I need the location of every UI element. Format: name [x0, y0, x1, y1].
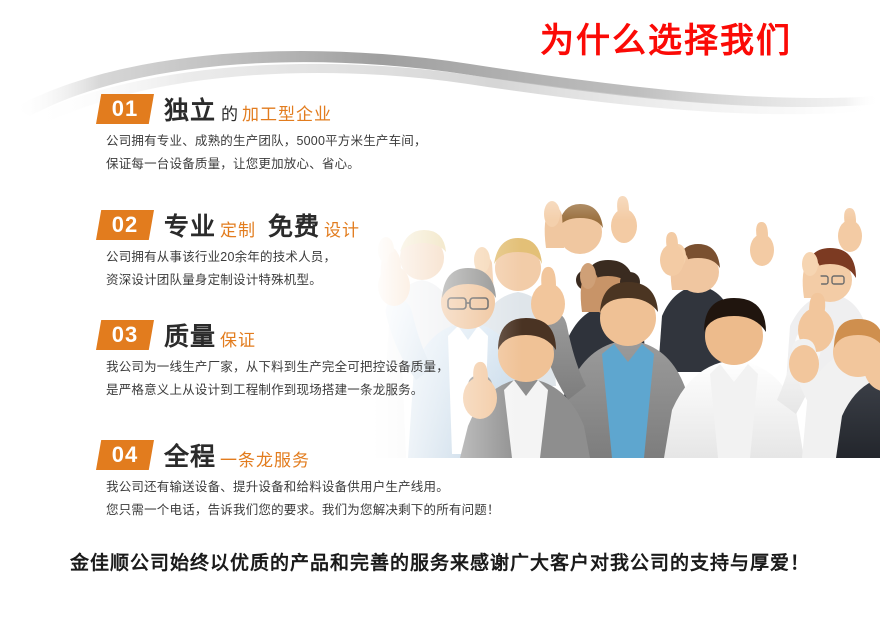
badge-number: 01	[96, 94, 154, 124]
badge-01: 01	[96, 94, 154, 124]
feature-body-line: 是严格意义上从设计到工程制作到现场搭建一条龙服务。	[96, 379, 496, 402]
footer-slogan: 金佳顺公司始终以优质的产品和完善的服务来感谢广大客户对我公司的支持与厚爱！	[0, 548, 880, 575]
feature-body-line: 您只需一个电话，告诉我们您的要求。我们为您解决剩下的所有问题！	[96, 499, 496, 522]
feature-heading: 04 全程 一条龙服务	[96, 434, 496, 470]
team-thumbs-up-photo	[372, 140, 880, 458]
heading-main: 专业	[164, 215, 216, 240]
feature-heading: 02 专业 定制 免费 设计	[96, 204, 496, 240]
feature-body-line: 我公司还有输送设备、提升设备和给料设备供用户生产线用。	[96, 476, 496, 499]
feature-item-02: 02 专业 定制 免费 设计 公司拥有从事该行业20余年的技术人员， 资深设计团…	[96, 204, 496, 292]
heading-accent: 定制	[220, 222, 256, 239]
feature-body-line: 公司拥有从事该行业20余年的技术人员，	[96, 246, 496, 269]
heading-main: 质量	[164, 325, 216, 350]
feature-item-04: 04 全程 一条龙服务 我公司还有输送设备、提升设备和给料设备供用户生产线用。 …	[96, 434, 496, 522]
feature-item-03: 03 质量 保证 我公司为一线生产厂家，从下料到生产完全可把控设备质量， 是严格…	[96, 314, 496, 402]
feature-body-line: 公司拥有专业、成熟的生产团队，5000平方米生产车间，	[96, 130, 496, 153]
feature-item-01: 01 独立 的 加工型企业 公司拥有专业、成熟的生产团队，5000平方米生产车间…	[96, 88, 496, 176]
heading-connector: 的	[221, 106, 238, 123]
heading-accent: 保证	[220, 332, 256, 349]
badge-02: 02	[96, 210, 154, 240]
page-title: 为什么选择我们	[540, 24, 792, 58]
feature-body-line: 我公司为一线生产厂家，从下料到生产完全可把控设备质量，	[96, 356, 496, 379]
promo-banner: 为什么选择我们	[0, 0, 880, 626]
feature-body-line: 资深设计团队量身定制设计特殊机型。	[96, 269, 496, 292]
feature-body-line: 保证每一台设备质量，让您更加放心、省心。	[96, 153, 496, 176]
badge-03: 03	[96, 320, 154, 350]
heading-main: 全程	[164, 445, 216, 470]
heading-accent: 一条龙服务	[220, 452, 310, 469]
feature-heading: 03 质量 保证	[96, 314, 496, 350]
badge-number: 04	[96, 440, 154, 470]
heading-accent: 加工型企业	[242, 106, 332, 123]
heading-accent-secondary: 设计	[324, 222, 360, 239]
badge-number: 03	[96, 320, 154, 350]
badge-number: 02	[96, 210, 154, 240]
heading-main-secondary: 免费	[268, 215, 320, 240]
badge-04: 04	[96, 440, 154, 470]
heading-main: 独立	[164, 99, 216, 124]
feature-heading: 01 独立 的 加工型企业	[96, 88, 496, 124]
